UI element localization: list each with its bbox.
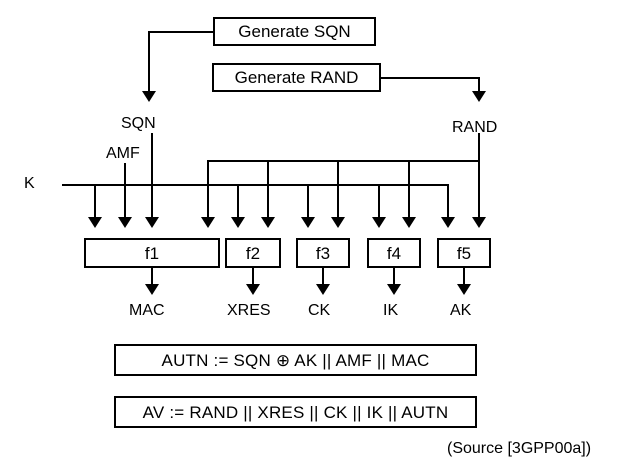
output-label-ik: IK	[383, 303, 398, 319]
rand-arrowhead-f3	[331, 217, 345, 228]
rand-drop-f3	[337, 160, 339, 219]
formula-box-av: AV := RAND || XRES || CK || IK || AUTN	[114, 396, 477, 428]
function-label-f1: f1	[145, 245, 159, 262]
amf-label: AMF	[106, 146, 140, 162]
k-arrowhead-f5	[441, 217, 455, 228]
output-arrowhead-ak	[457, 284, 471, 295]
rand-drop-f1	[207, 160, 209, 219]
k-arrowhead-f3	[301, 217, 315, 228]
function-box-f4: f4	[367, 238, 421, 268]
sqn-drop-line	[151, 133, 153, 219]
function-box-f5: f5	[437, 238, 491, 268]
sqn-route-arrowhead	[142, 91, 156, 102]
rand-arrowhead-f5	[472, 217, 486, 228]
k-label: K	[24, 176, 35, 192]
output-arrowhead-mac	[145, 284, 159, 295]
generate-sqn-label: Generate SQN	[238, 23, 350, 40]
k-drop-f5	[447, 184, 449, 219]
rand-arrowhead-f1	[201, 217, 215, 228]
rand-bus-feed-line	[478, 133, 480, 162]
function-label-f5: f5	[457, 245, 471, 262]
output-label-ak: AK	[450, 303, 471, 319]
k-arrowhead-f1	[88, 217, 102, 228]
k-arrowhead-f2	[231, 217, 245, 228]
rand-route-horizontal	[379, 77, 480, 79]
sqn-route-horizontal	[148, 31, 215, 33]
generate-sqn-box: Generate SQN	[213, 17, 376, 46]
function-label-f3: f3	[316, 245, 330, 262]
amf-drop-line	[124, 163, 126, 219]
rand-arrowhead-f2	[261, 217, 275, 228]
formula-text-autn: AUTN := SQN ⊕ AK || AMF || MAC	[162, 352, 430, 369]
rand-label: RAND	[452, 120, 497, 136]
output-arrowhead-xres	[246, 284, 260, 295]
amf-input-arrowhead	[118, 217, 132, 228]
k-drop-f4	[378, 184, 380, 219]
output-label-mac: MAC	[129, 303, 165, 319]
k-arrowhead-f4	[372, 217, 386, 228]
formula-box-autn: AUTN := SQN ⊕ AK || AMF || MAC	[114, 344, 477, 376]
output-arrowhead-ik	[387, 284, 401, 295]
function-box-f3: f3	[296, 238, 350, 268]
k-drop-f3	[307, 184, 309, 219]
output-label-ck: CK	[308, 303, 330, 319]
k-drop-f1	[94, 184, 96, 219]
rand-drop-f4	[408, 160, 410, 219]
formula-text-av: AV := RAND || XRES || CK || IK || AUTN	[143, 404, 449, 421]
rand-arrowhead-f4	[402, 217, 416, 228]
generate-rand-label: Generate RAND	[235, 69, 359, 86]
output-label-xres: XRES	[227, 303, 271, 319]
function-label-f2: f2	[246, 245, 260, 262]
output-arrowhead-ck	[316, 284, 330, 295]
rand-distribution-bus	[207, 160, 480, 162]
sqn-route-vertical	[148, 31, 150, 93]
rand-drop-f2	[267, 160, 269, 219]
generate-rand-box: Generate RAND	[212, 63, 381, 92]
k-drop-f2	[237, 184, 239, 219]
sqn-label: SQN	[121, 116, 156, 132]
function-label-f4: f4	[387, 245, 401, 262]
source-caption: (Source [3GPP00a])	[447, 441, 591, 457]
function-box-f1: f1	[84, 238, 220, 268]
function-box-f2: f2	[225, 238, 281, 268]
diagram-canvas: Generate SQN Generate RAND SQN AMF RAND …	[0, 0, 634, 465]
sqn-input-arrowhead	[145, 217, 159, 228]
rand-route-arrowhead	[472, 91, 486, 102]
k-distribution-bus	[62, 184, 448, 186]
rand-drop-f5	[478, 160, 480, 219]
